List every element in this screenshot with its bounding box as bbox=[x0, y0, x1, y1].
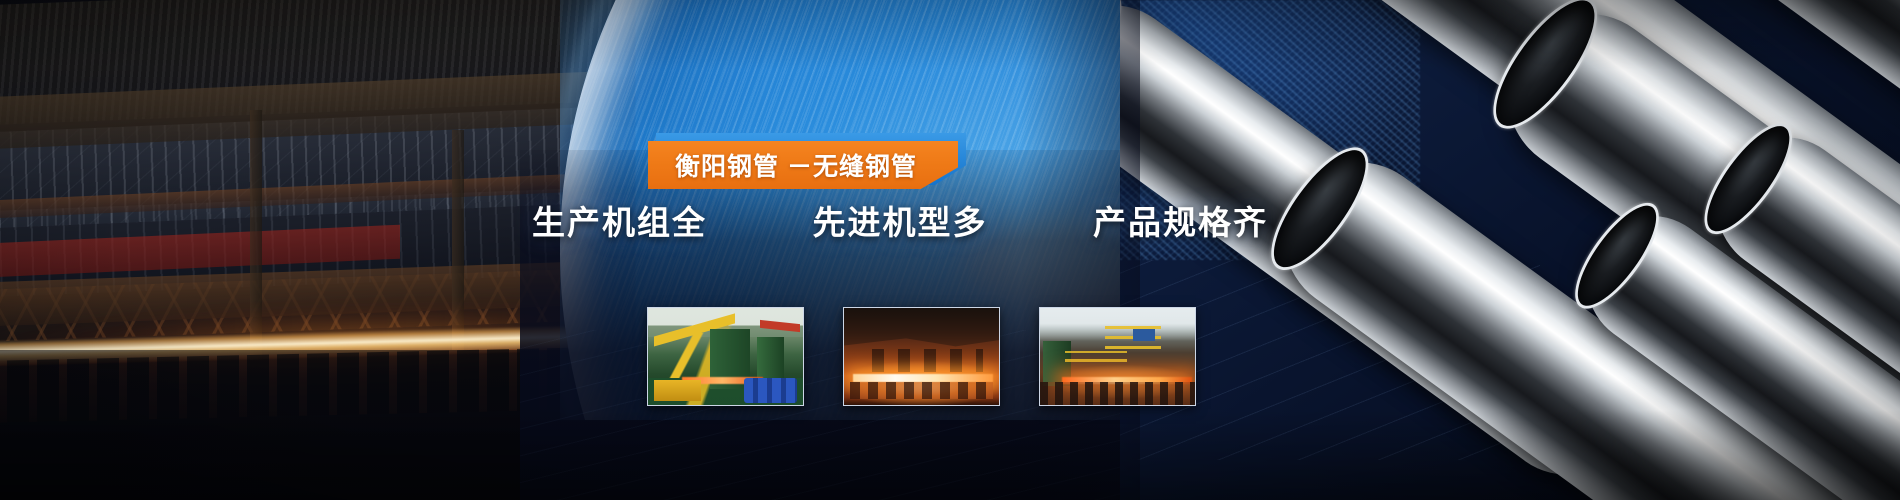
brand-label-text: 衡阳钢管 －无缝钢管 bbox=[675, 147, 931, 183]
thumbnail-image-1[interactable] bbox=[647, 307, 804, 406]
image-seam-gradient bbox=[1020, 0, 1140, 500]
thumb3-floor-machinery bbox=[1040, 382, 1195, 405]
brand-label-orange-plate: 衡阳钢管 －无缝钢管 bbox=[648, 141, 958, 189]
headline-item-3: 产品规格齐 bbox=[1091, 196, 1270, 244]
thumbnail-row bbox=[647, 307, 1196, 406]
thumb1-blue-motors bbox=[744, 378, 797, 403]
steel-pipes-image bbox=[1120, 0, 1900, 500]
thumb2-rollers bbox=[850, 382, 993, 399]
thumb3-blue-unit bbox=[1133, 329, 1155, 341]
thumb1-red-crane bbox=[760, 319, 800, 331]
thumbnail-image-2[interactable] bbox=[843, 307, 1000, 406]
thumb1-yellow-stair bbox=[651, 333, 722, 378]
thumb3-yellow-railing bbox=[1065, 351, 1127, 363]
thumb2-frame bbox=[872, 349, 984, 372]
thumb2-glowing-billet bbox=[853, 374, 993, 382]
headline-item-1: 生产机组全 bbox=[530, 196, 709, 244]
thumb2-mill-housing bbox=[844, 308, 999, 353]
brand-label: 衡阳钢管 －无缝钢管 bbox=[648, 133, 968, 189]
headline: 生产机组全 先进机型多 产品规格齐 bbox=[530, 196, 1270, 244]
thumbnail-image-3[interactable] bbox=[1039, 307, 1196, 406]
hero-banner: 衡阳钢管 －无缝钢管 生产机组全 先进机型多 产品规格齐 bbox=[0, 0, 1900, 500]
headline-item-2: 先进机型多 bbox=[811, 196, 990, 244]
thumb1-yellow-stand bbox=[654, 380, 701, 401]
